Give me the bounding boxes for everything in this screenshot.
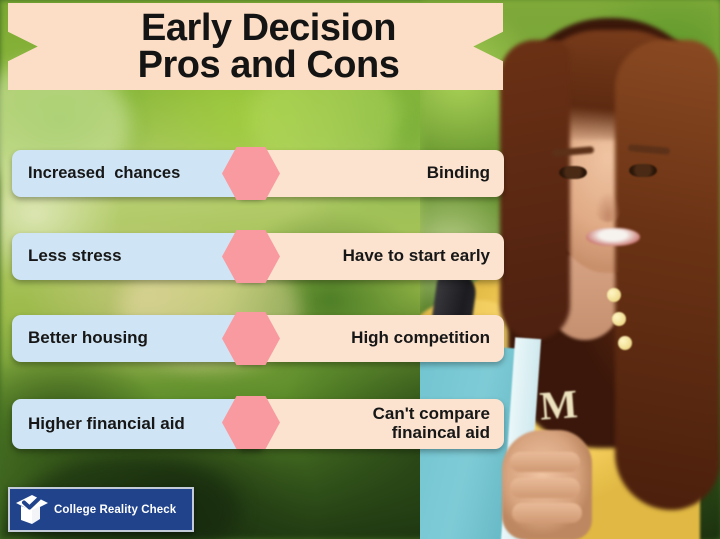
infographic-canvas: M Early Decision Pros and Cons Increased… — [0, 0, 720, 539]
pro-label: Less stress — [28, 247, 122, 266]
pros-cons-row: Higher financial aid Can't compare finai… — [12, 399, 504, 449]
pros-cons-row: Better housing High competition — [12, 315, 504, 362]
pros-cons-row: Less stress Have to start early — [12, 233, 504, 280]
con-label: Can't compare finaincal aid — [373, 405, 490, 442]
con-label: High competition — [351, 329, 490, 348]
brand-name: College Reality Check — [54, 504, 176, 516]
pros-cons-row: Increased chances Binding — [12, 150, 504, 197]
pro-label: Higher financial aid — [28, 415, 185, 434]
con-bar: Can't compare finaincal aid — [240, 399, 504, 449]
pro-label: Better housing — [28, 329, 148, 348]
pro-label: Increased chances — [28, 164, 180, 182]
brand-logo[interactable]: College Reality Check — [8, 487, 194, 532]
con-label: Have to start early — [343, 247, 490, 266]
graduation-cap-check-icon — [10, 490, 54, 530]
pros-cons-list: Increased chances Binding Less stress Ha… — [0, 0, 720, 539]
con-label: Binding — [427, 164, 490, 183]
